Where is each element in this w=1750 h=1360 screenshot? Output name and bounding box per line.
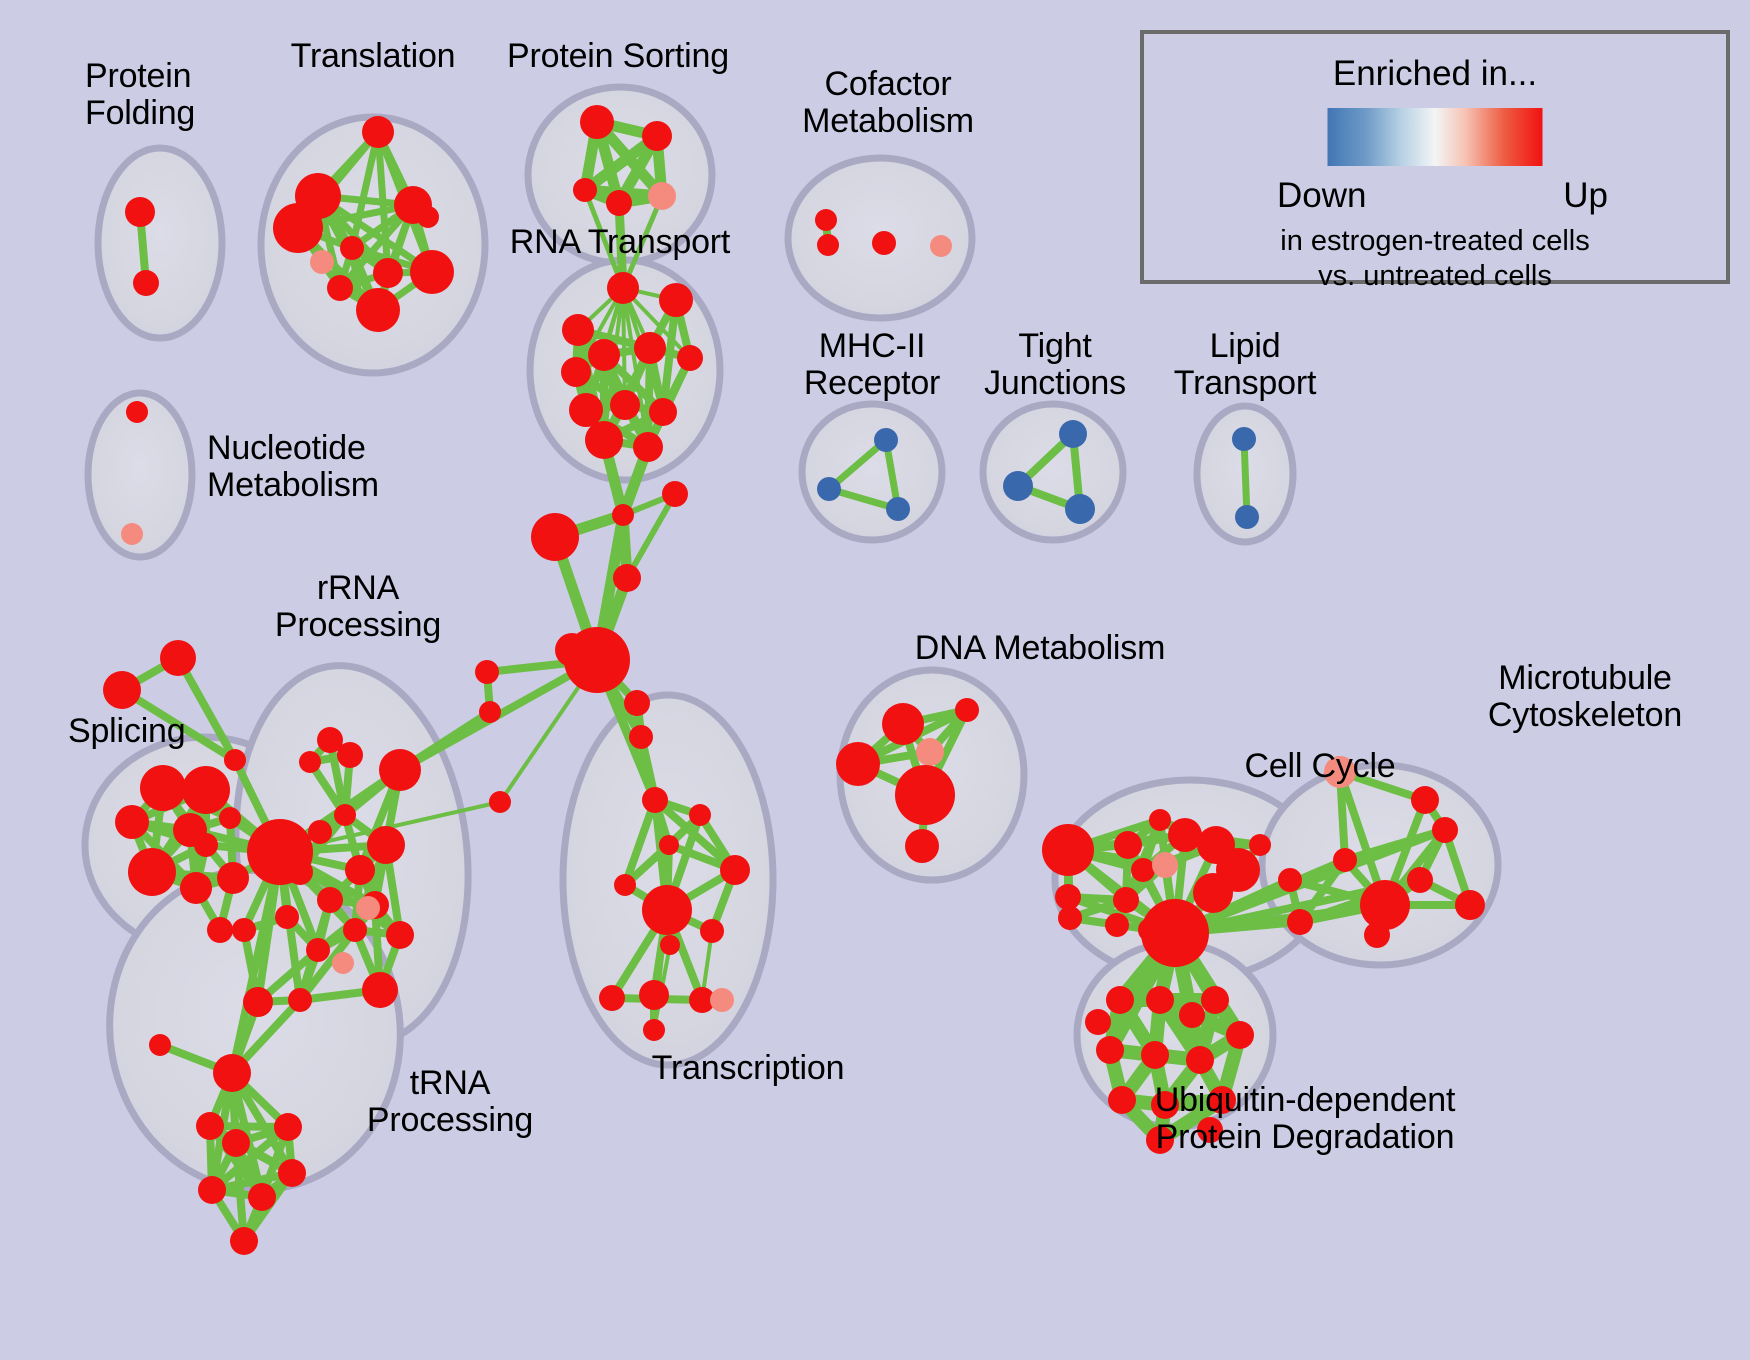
- cluster-label-mhc-ii-receptor: MHC-IIReceptor: [804, 328, 940, 401]
- cluster-label-microtubule-cytoskeleton: MicrotubuleCytoskeleton: [1488, 660, 1682, 733]
- legend-color-bar: [1328, 108, 1543, 166]
- legend-title: Enriched in...: [1144, 54, 1726, 94]
- cluster-label-rrna-processing: rRNAProcessing: [275, 570, 441, 643]
- enrichment-map-figure: ProteinFolding Translation Protein Sorti…: [0, 0, 1750, 1360]
- legend-low-label: Down: [1277, 176, 1366, 216]
- cluster-label-protein-folding: ProteinFolding: [85, 58, 195, 131]
- cluster-label-cofactor-metabolism: CofactorMetabolism: [802, 66, 974, 139]
- blob-tight-junctions: [983, 404, 1123, 540]
- cluster-label-splicing: Splicing: [68, 713, 185, 750]
- cluster-label-nucleotide-metabolism: NucleotideMetabolism: [207, 430, 379, 503]
- cluster-label-translation: Translation: [291, 38, 456, 75]
- cluster-label-transcription: Transcription: [652, 1050, 845, 1087]
- cluster-label-tight-junctions: TightJunctions: [984, 328, 1126, 401]
- blob-protein-folding: [98, 148, 222, 338]
- cluster-label-rna-transport: RNA Transport: [510, 224, 730, 261]
- cluster-label-cell-cycle: Cell Cycle: [1244, 748, 1395, 785]
- cluster-label-dna-metabolism: DNA Metabolism: [915, 630, 1165, 667]
- legend-box: Enriched in... Down Up in estrogen-treat…: [1140, 30, 1730, 284]
- legend-high-label: Up: [1563, 176, 1608, 216]
- cluster-label-protein-sorting: Protein Sorting: [507, 38, 729, 75]
- blob-mhc: [802, 404, 942, 540]
- legend-subtitle: in estrogen-treated cellsvs. untreated c…: [1144, 224, 1726, 294]
- cluster-label-lipid-transport: LipidTransport: [1174, 328, 1316, 401]
- cluster-label-ubiquitin-degradation: Ubiquitin-dependentProtein Degradation: [1155, 1082, 1456, 1155]
- cluster-label-trna-processing: tRNAProcessing: [367, 1065, 533, 1138]
